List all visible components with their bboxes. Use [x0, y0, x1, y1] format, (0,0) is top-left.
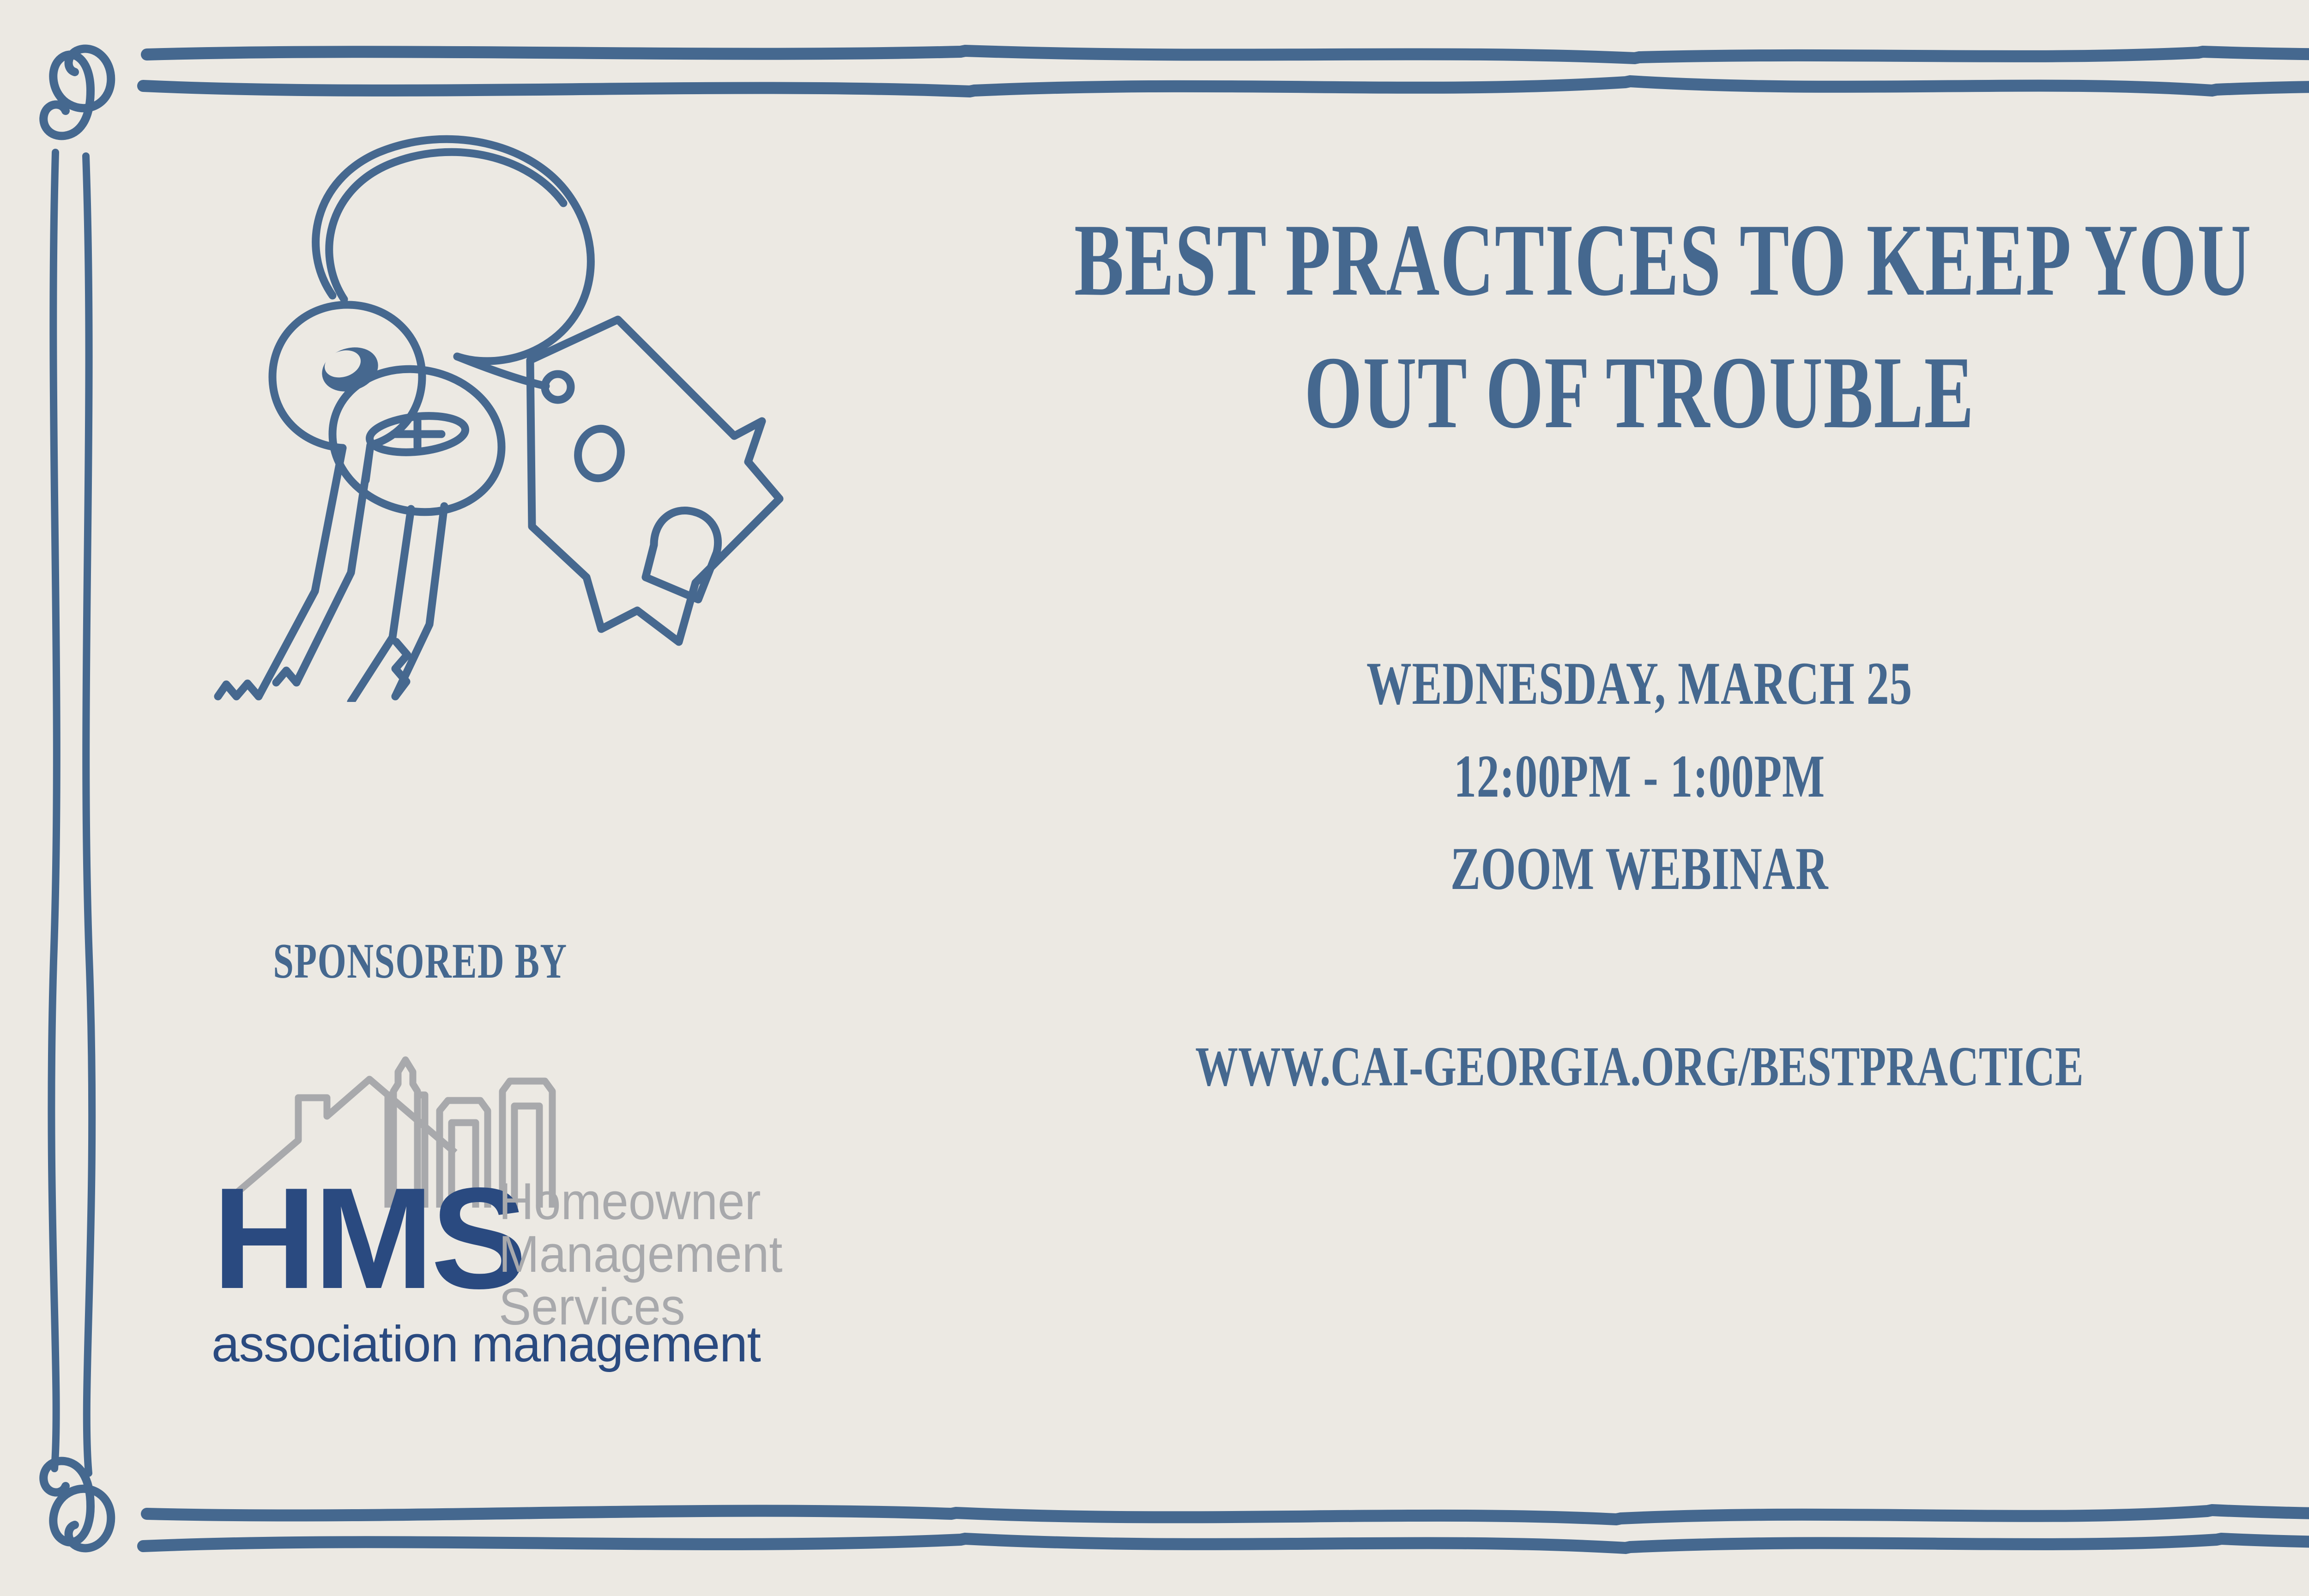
corner-flourish-bottom-left — [43, 1461, 111, 1548]
corner-flourish-top-left — [43, 49, 111, 136]
event-date: WEDNESDAY, MARCH 25 — [1058, 637, 2220, 730]
hms-wordmark: HMS — [212, 1180, 524, 1298]
event-time: 12:00PM - 1:00PM — [1058, 730, 2220, 823]
hms-name-line-1: Homeowner — [499, 1175, 783, 1228]
hms-full-name: Homeowner Management Services — [499, 1175, 783, 1334]
title-line-2: OUT OF TROUBLE — [1074, 326, 2205, 459]
page-title: BEST PRACTICES TO KEEP YOU OUT OF TROUBL… — [854, 194, 2309, 459]
sponsor-logo-hms: HMS Homeowner Management Services associ… — [185, 1041, 970, 1374]
sponsored-by-text: SPONSORED BY — [215, 933, 625, 990]
event-details: WEDNESDAY, MARCH 25 12:00PM - 1:00PM ZOO… — [854, 637, 2309, 915]
hms-tagline: association management — [212, 1315, 761, 1373]
title-line-1: BEST PRACTICES TO KEEP YOU — [1074, 194, 2205, 326]
poster-canvas: BEST PRACTICES TO KEEP YOU OUT OF TROUBL… — [0, 0, 2309, 1596]
sponsored-by-label: SPONSORED BY — [143, 933, 697, 990]
registration-url[interactable]: WWW.CAI-GEORGIA.ORG/BESTPRACTICE — [1043, 1034, 2236, 1099]
keys-illustration — [134, 111, 790, 702]
event-platform: ZOOM WEBINAR — [1058, 822, 2220, 915]
hms-name-line-2: Management — [499, 1228, 783, 1281]
registration-url-block: WWW.CAI-GEORGIA.ORG/BESTPRACTICE — [854, 1034, 2309, 1099]
